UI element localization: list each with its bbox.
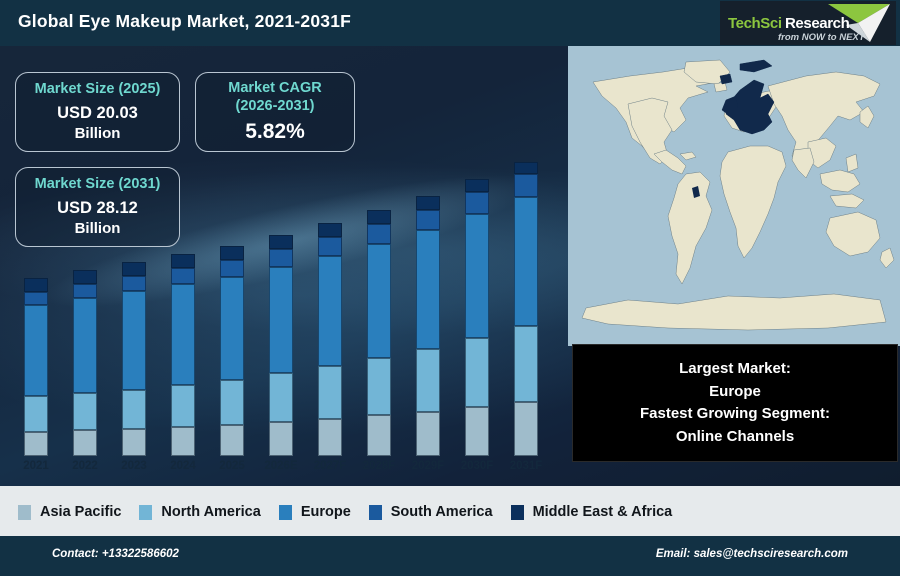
bar-2027F[interactable] — [318, 223, 342, 456]
world-map-graphic — [568, 46, 900, 346]
kpi-unit: Billion — [75, 124, 121, 144]
bar-2029F[interactable] — [416, 196, 440, 456]
bar-segment-middle-east-africa — [24, 278, 48, 292]
bar-segment-asia-pacific — [220, 425, 244, 456]
techsci-research-logo[interactable]: TechSci Research from NOW to NEXT — [720, 1, 896, 45]
bar-segment-north-america — [269, 373, 293, 422]
legend-label-middle-east-africa: Middle East & Africa — [533, 504, 673, 520]
bar-segment-europe — [220, 277, 244, 380]
x-axis-label-2026E: 2026E — [254, 460, 308, 472]
bar-segment-asia-pacific — [122, 429, 146, 456]
kpi-market-size-2025: Market Size (2025) USD 20.03 Billion — [15, 72, 180, 152]
legend-label-south-america: South America — [391, 504, 493, 520]
kpi-title: Market Size (2025) — [35, 80, 161, 98]
x-axis-label-2027F: 2027F — [303, 460, 357, 472]
bar-segment-europe — [73, 298, 97, 393]
bar-segment-south-america — [73, 284, 97, 298]
bar-segment-asia-pacific — [269, 422, 293, 456]
bar-segment-asia-pacific — [465, 407, 489, 456]
bar-segment-north-america — [220, 380, 244, 425]
bar-segment-europe — [514, 197, 538, 326]
bar-segment-asia-pacific — [514, 402, 538, 456]
svg-text:TechSci: TechSci — [728, 15, 782, 32]
bar-segment-south-america — [416, 210, 440, 231]
bar-segment-north-america — [318, 366, 342, 419]
world-map — [568, 46, 900, 346]
bar-2031F[interactable] — [514, 162, 538, 456]
bar-2026E[interactable] — [269, 235, 293, 456]
x-axis-label-2021: 2021 — [9, 460, 63, 472]
bar-segment-europe — [367, 244, 391, 358]
legend-swatch-asia-pacific — [18, 505, 31, 520]
legend-swatch-north-america — [139, 505, 152, 520]
bar-segment-south-america — [514, 174, 538, 197]
header-bar: Global Eye Makeup Market, 2021-2031F Tec… — [0, 0, 900, 46]
largest-market-label: Largest Market: — [679, 358, 791, 381]
footer-contact: Contact: +13322586602 — [52, 548, 179, 560]
bar-segment-north-america — [465, 338, 489, 407]
svg-text:from NOW to NEXT: from NOW to NEXT — [778, 32, 866, 43]
bar-segment-europe — [171, 284, 195, 384]
bar-segment-south-america — [465, 192, 489, 214]
bar-2028F[interactable] — [367, 210, 391, 456]
largest-market-value: Europe — [709, 381, 761, 404]
legend-label-europe: Europe — [301, 504, 351, 520]
kpi-title: Market Size (2031) — [35, 175, 161, 193]
legend-item-asia-pacific[interactable]: Asia Pacific — [18, 504, 121, 520]
bar-segment-middle-east-africa — [220, 246, 244, 259]
legend-label-north-america: North America — [161, 504, 260, 520]
bar-segment-asia-pacific — [367, 415, 391, 456]
x-axis-label-2023: 2023 — [107, 460, 161, 472]
bar-segment-europe — [122, 291, 146, 389]
x-axis-label-2024: 2024 — [156, 460, 210, 472]
bar-2022[interactable] — [73, 270, 97, 456]
svg-text:Research: Research — [785, 15, 850, 32]
bar-segment-north-america — [24, 396, 48, 432]
kpi-title: Market CAGR — [228, 79, 321, 97]
bar-segment-middle-east-africa — [367, 210, 391, 224]
kpi-value: 5.82% — [245, 118, 305, 145]
bar-segment-south-america — [269, 249, 293, 267]
bar-segment-middle-east-africa — [269, 235, 293, 249]
bar-2025[interactable] — [220, 246, 244, 456]
bar-segment-south-america — [171, 268, 195, 284]
bar-segment-south-america — [318, 237, 342, 256]
bar-segment-north-america — [122, 390, 146, 429]
bar-segment-north-america — [73, 393, 97, 430]
bar-segment-south-america — [122, 276, 146, 291]
legend-item-middle-east-africa[interactable]: Middle East & Africa — [511, 504, 673, 520]
logo-graphic: TechSci Research from NOW to NEXT — [720, 1, 896, 45]
legend-item-europe[interactable]: Europe — [279, 504, 351, 520]
x-axis-label-2030F: 2030F — [450, 460, 504, 472]
fastest-segment-value: Online Channels — [676, 426, 794, 449]
bar-2024[interactable] — [171, 254, 195, 456]
bar-segment-north-america — [416, 349, 440, 412]
infographic-canvas: Global Eye Makeup Market, 2021-2031F Tec… — [0, 0, 900, 576]
legend-item-north-america[interactable]: North America — [139, 504, 260, 520]
bar-segment-middle-east-africa — [416, 196, 440, 210]
bar-segment-asia-pacific — [416, 412, 440, 456]
bar-segment-europe — [416, 230, 440, 348]
bar-segment-north-america — [171, 385, 195, 427]
bar-segment-middle-east-africa — [465, 179, 489, 192]
bar-segment-middle-east-africa — [122, 262, 146, 276]
bar-segment-middle-east-africa — [318, 223, 342, 237]
bar-segment-middle-east-africa — [171, 254, 195, 268]
bar-segment-south-america — [220, 260, 244, 277]
bar-2021[interactable] — [24, 278, 48, 456]
bar-2030F[interactable] — [465, 179, 489, 456]
page-title: Global Eye Makeup Market, 2021-2031F — [18, 11, 351, 32]
bar-segment-middle-east-africa — [514, 162, 538, 174]
kpi-market-size-2031: Market Size (2031) USD 28.12 Billion — [15, 167, 180, 247]
legend-swatch-middle-east-africa — [511, 505, 524, 520]
bar-segment-europe — [465, 214, 489, 338]
kpi-unit: Billion — [75, 219, 121, 239]
bar-segment-south-america — [367, 224, 391, 244]
bar-2023[interactable] — [122, 262, 146, 456]
bar-segment-north-america — [367, 358, 391, 416]
x-axis-label-2031F: 2031F — [499, 460, 553, 472]
footer-email: Email: sales@techsciresearch.com — [656, 548, 848, 560]
bar-segment-europe — [24, 305, 48, 396]
chart-x-axis: 202120222023202420252026E2027F2028F2029F… — [0, 456, 568, 482]
kpi-value: USD 20.03 — [57, 102, 138, 124]
x-axis-label-2025: 2025 — [205, 460, 259, 472]
bar-segment-europe — [269, 267, 293, 374]
x-axis-label-2028F: 2028F — [352, 460, 406, 472]
x-axis-label-2022: 2022 — [58, 460, 112, 472]
footer-bar: Contact: +13322586602 Email: sales@techs… — [0, 536, 900, 576]
legend-item-south-america[interactable]: South America — [369, 504, 493, 520]
bar-segment-asia-pacific — [171, 427, 195, 456]
bar-segment-middle-east-africa — [73, 270, 97, 284]
fastest-segment-label: Fastest Growing Segment: — [640, 403, 830, 426]
kpi-subtitle: (2026-2031) — [236, 97, 315, 115]
callout-box: Largest Market: Europe Fastest Growing S… — [572, 344, 898, 462]
x-axis-label-2029F: 2029F — [401, 460, 455, 472]
chart-legend: Asia PacificNorth AmericaEuropeSouth Ame… — [0, 492, 900, 532]
legend-label-asia-pacific: Asia Pacific — [40, 504, 121, 520]
bar-segment-europe — [318, 256, 342, 366]
kpi-value: USD 28.12 — [57, 197, 138, 219]
legend-swatch-europe — [279, 505, 292, 520]
bar-segment-asia-pacific — [318, 419, 342, 456]
bar-segment-asia-pacific — [24, 432, 48, 456]
bar-segment-north-america — [514, 326, 538, 402]
bar-segment-south-america — [24, 292, 48, 306]
kpi-market-cagr: Market CAGR (2026-2031) 5.82% — [195, 72, 355, 152]
bar-segment-asia-pacific — [73, 430, 97, 456]
legend-swatch-south-america — [369, 505, 382, 520]
